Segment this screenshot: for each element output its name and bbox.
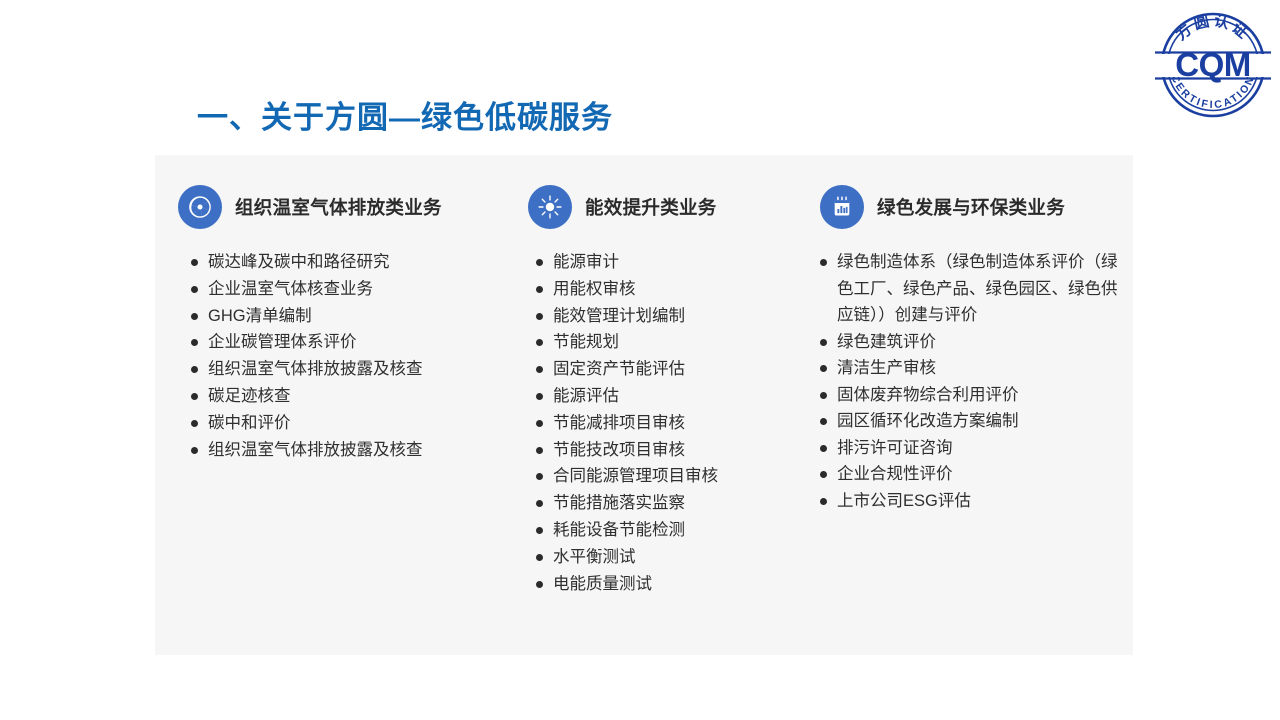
services-columns: 组织温室气体排放类业务 碳达峰及碳中和路径研究 企业温室气体核查业务 GHG清单… <box>155 155 1133 655</box>
service-column-title: 能效提升类业务 <box>585 194 717 220</box>
list-item: 绿色建筑评价 <box>820 329 1133 356</box>
list-item: 耗能设备节能检测 <box>536 517 810 544</box>
service-column-header: 绿色发展与环保类业务 <box>820 185 1133 229</box>
svg-text:方圆认证: 方圆认证 <box>1172 11 1254 44</box>
list-item: 组织温室气体排放披露及核查 <box>191 437 510 464</box>
list-item: 绿色制造体系（绿色制造体系评价（绿色工厂、绿色产品、绿色园区、绿色供应链））创建… <box>820 249 1133 329</box>
list-item: 能效管理计划编制 <box>536 303 810 330</box>
list-item: 节能技改项目审核 <box>536 437 810 464</box>
service-column-title: 绿色发展与环保类业务 <box>877 194 1065 220</box>
service-column-ghg: 组织温室气体排放类业务 碳达峰及碳中和路径研究 企业温室气体核查业务 GHG清单… <box>155 155 510 655</box>
services-panel: 组织温室气体排放类业务 碳达峰及碳中和路径研究 企业温室气体核查业务 GHG清单… <box>155 155 1133 655</box>
list-item: 企业温室气体核查业务 <box>191 276 510 303</box>
list-item: 碳达峰及碳中和路径研究 <box>191 249 510 276</box>
list-item: 清洁生产审核 <box>820 355 1133 382</box>
list-item: 组织温室气体排放披露及核查 <box>191 356 510 383</box>
service-column-green: 绿色发展与环保类业务 绿色制造体系（绿色制造体系评价（绿色工厂、绿色产品、绿色园… <box>810 155 1133 655</box>
list-item: 园区循环化改造方案编制 <box>820 408 1133 435</box>
service-list: 碳达峰及碳中和路径研究 企业温室气体核查业务 GHG清单编制 企业碳管理体系评价… <box>191 249 510 463</box>
list-item: 碳中和评价 <box>191 410 510 437</box>
sun-icon <box>528 185 572 229</box>
service-list: 绿色制造体系（绿色制造体系评价（绿色工厂、绿色产品、绿色园区、绿色供应链））创建… <box>820 249 1133 514</box>
service-list: 能源审计 用能权审核 能效管理计划编制 节能规划 固定资产节能评估 能源评估 节… <box>536 249 810 597</box>
service-column-efficiency: 能效提升类业务 能源审计 用能权审核 能效管理计划编制 节能规划 固定资产节能评… <box>510 155 810 655</box>
list-item: GHG清单编制 <box>191 303 510 330</box>
list-item: 固定资产节能评估 <box>536 356 810 383</box>
aperture-icon <box>178 185 222 229</box>
list-item: 排污许可证咨询 <box>820 435 1133 462</box>
list-item: 碳足迹核查 <box>191 383 510 410</box>
calendar-chart-icon <box>820 185 864 229</box>
list-item: 水平衡测试 <box>536 544 810 571</box>
list-item: 固体废弃物综合利用评价 <box>820 382 1133 409</box>
list-item: 节能规划 <box>536 329 810 356</box>
list-item: 节能减排项目审核 <box>536 410 810 437</box>
service-column-header: 能效提升类业务 <box>528 185 810 229</box>
page-title: 一、关于方圆—绿色低碳服务 <box>197 92 613 137</box>
list-item: 合同能源管理项目审核 <box>536 463 810 490</box>
list-item: 电能质量测试 <box>536 571 810 598</box>
cqm-certification-logo: 方圆认证 CERTIFICATION CQM <box>1154 6 1272 124</box>
list-item: 能源审计 <box>536 249 810 276</box>
service-column-title: 组织温室气体排放类业务 <box>235 194 442 220</box>
list-item: 能源评估 <box>536 383 810 410</box>
list-item: 用能权审核 <box>536 276 810 303</box>
list-item: 上市公司ESG评估 <box>820 488 1133 515</box>
list-item: 企业合规性评价 <box>820 461 1133 488</box>
list-item: 节能措施落实监察 <box>536 490 810 517</box>
logo-top-text: 方圆认证 <box>1172 11 1254 44</box>
service-column-header: 组织温室气体排放类业务 <box>178 185 510 229</box>
list-item: 企业碳管理体系评价 <box>191 329 510 356</box>
